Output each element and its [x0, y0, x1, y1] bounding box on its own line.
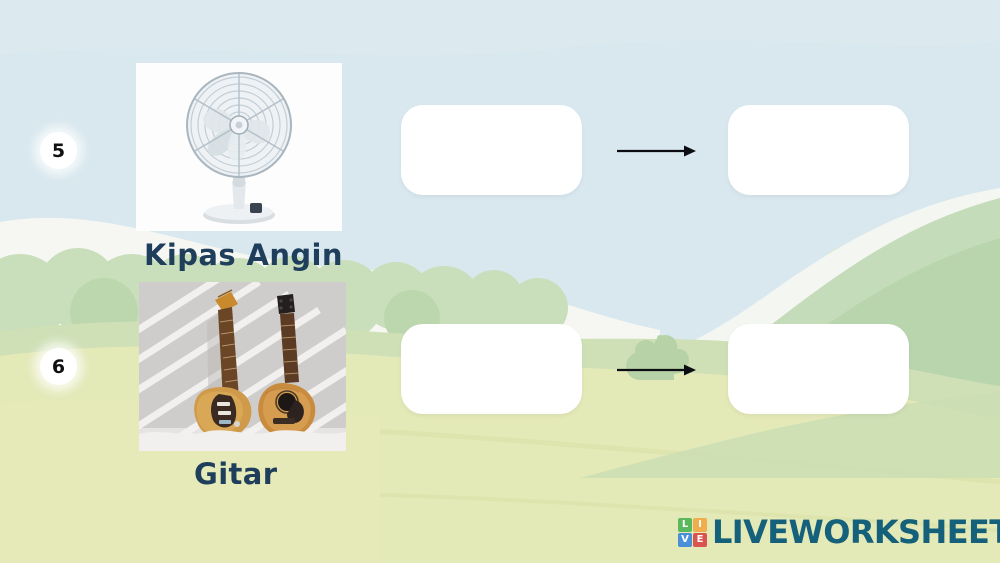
liveworksheets-logo: L I V E LIVEWORKSHEETS — [678, 516, 1000, 548]
two-guitars-photo — [139, 282, 346, 451]
arrow-right-icon — [616, 141, 698, 161]
answer-box-6-first[interactable] — [401, 324, 582, 414]
logo-tile-e: E — [693, 533, 707, 547]
answer-box-6-second[interactable] — [728, 324, 909, 414]
electric-fan-photo — [136, 63, 342, 231]
logo-tile-l: L — [678, 518, 692, 532]
item-number-badge-6: 6 — [40, 348, 77, 385]
item-label-5: Kipas Angin — [144, 238, 343, 272]
logo-tile-v: V — [678, 533, 692, 547]
answer-box-5-second[interactable] — [728, 105, 909, 195]
worksheet-page: 5 — [0, 0, 1000, 563]
answer-box-5-first[interactable] — [401, 105, 582, 195]
item-number-badge-5: 5 — [40, 132, 77, 169]
logo-tile-i: I — [693, 518, 707, 532]
arrow-right-icon — [616, 360, 698, 380]
item-label-6: Gitar — [194, 457, 277, 491]
liveworksheets-wordmark: LIVEWORKSHEETS — [712, 516, 1000, 548]
liveworksheets-logo-mark: L I V E — [678, 518, 707, 547]
